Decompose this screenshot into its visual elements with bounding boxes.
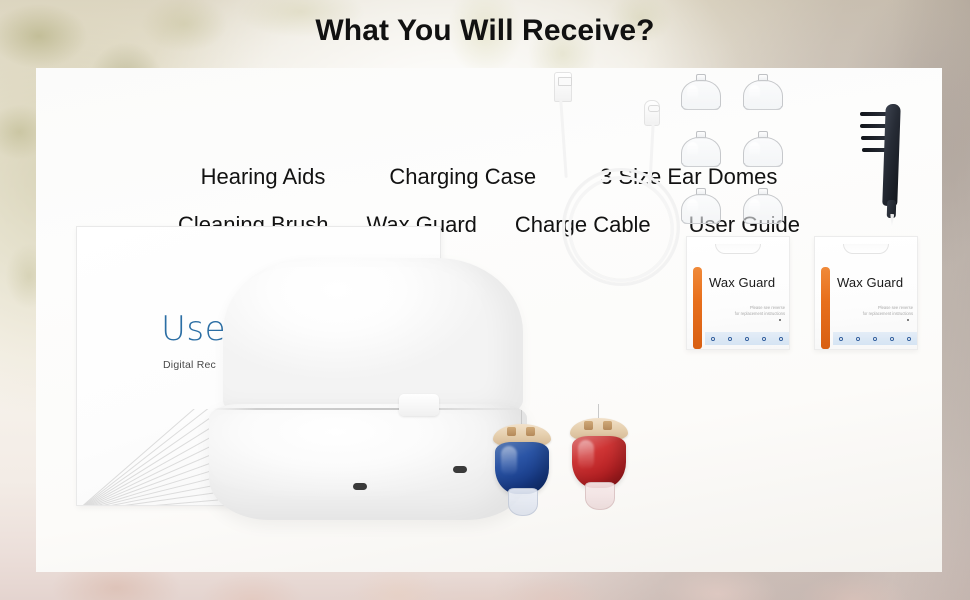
wax-guard-hang-hole — [843, 244, 889, 254]
wax-guard-filter — [711, 337, 715, 341]
wax-guard-filter — [728, 337, 732, 341]
wax-guard-tool-orange — [693, 267, 702, 349]
wax-guard-filter — [839, 337, 843, 341]
ear-domes-grid — [681, 74, 811, 234]
hearing-aid-highlight — [578, 440, 594, 470]
cleaning-brush-tine — [860, 112, 887, 116]
ear-dome — [743, 131, 783, 167]
ear-dome — [681, 188, 721, 224]
wax-guard-filter — [856, 337, 860, 341]
wax-guard-filter-strip — [705, 332, 789, 345]
wax-guard-filter-strip — [833, 332, 917, 345]
hearing-aid-left-blue — [491, 416, 553, 516]
ear-dome-rim — [744, 220, 782, 224]
wax-guard-bullet-mark — [907, 319, 909, 321]
wax-guard-filter — [873, 337, 877, 341]
charging-case — [201, 258, 531, 528]
cable-coil-inner — [568, 176, 674, 282]
hearing-aid-right-red — [568, 410, 630, 510]
wax-guard-packet-title: Wax Guard — [709, 275, 775, 290]
product-photo: User Digital Rec — [36, 68, 942, 572]
hearing-aid-contact-pin — [526, 427, 535, 436]
hearing-aid-highlight — [501, 446, 517, 476]
wax-guard-filter — [907, 337, 911, 341]
wax-guard-filter — [779, 337, 783, 341]
wax-guard-packet-title: Wax Guard — [837, 275, 903, 290]
charging-case-latch — [399, 394, 439, 416]
ear-dome-rim — [682, 163, 720, 167]
hearing-aid-contact-pin — [584, 421, 593, 430]
ear-dome — [681, 131, 721, 167]
ear-dome-rim — [682, 106, 720, 110]
usb-a-connector — [554, 72, 572, 102]
wax-guard-bullet-mark — [779, 319, 781, 321]
ear-dome — [681, 74, 721, 110]
wax-guard-filter — [762, 337, 766, 341]
ear-dome-rim — [682, 220, 720, 224]
cable-segment-upper-left — [559, 100, 567, 178]
wax-guard-filter — [890, 337, 894, 341]
ear-dome-rim — [744, 163, 782, 167]
hearing-aid-ear-dome — [508, 488, 538, 516]
hearing-aid-contact-pin — [603, 421, 612, 430]
charging-case-indicator-light — [353, 483, 367, 490]
wax-guard-tool-orange — [821, 267, 830, 349]
wax-guard-fine-print: Please see reverse for replacement instr… — [725, 305, 785, 317]
wax-guard-fine-print: Please see reverse for replacement instr… — [853, 305, 913, 317]
wax-guard-hang-hole — [715, 244, 761, 254]
charging-case-port — [453, 466, 467, 473]
ear-dome-rim — [744, 106, 782, 110]
charging-case-lid — [223, 258, 523, 418]
charging-case-body — [209, 404, 527, 520]
cleaning-brush-barrel — [882, 104, 901, 206]
charging-case-seam — [213, 408, 523, 410]
ear-dome — [743, 188, 783, 224]
wax-guard-packet: Wax Guard Please see reverse for replace… — [686, 236, 790, 350]
hearing-aid-contact-pin — [507, 427, 516, 436]
cleaning-brush — [858, 100, 918, 230]
cleaning-brush-tine — [860, 124, 887, 128]
hearing-aid-ear-dome — [585, 482, 615, 510]
wax-guard-filter — [745, 337, 749, 341]
usb-c-connector — [644, 100, 660, 126]
content-panel: Hearing Aids Charging Case 3 Size Ear Do… — [36, 68, 942, 572]
page-title: What You Will Receive? — [0, 14, 970, 48]
wax-guard-packet: Wax Guard Please see reverse for replace… — [814, 236, 918, 350]
ear-dome — [743, 74, 783, 110]
infographic-canvas: What You Will Receive? Hearing Aids Char… — [0, 0, 970, 600]
